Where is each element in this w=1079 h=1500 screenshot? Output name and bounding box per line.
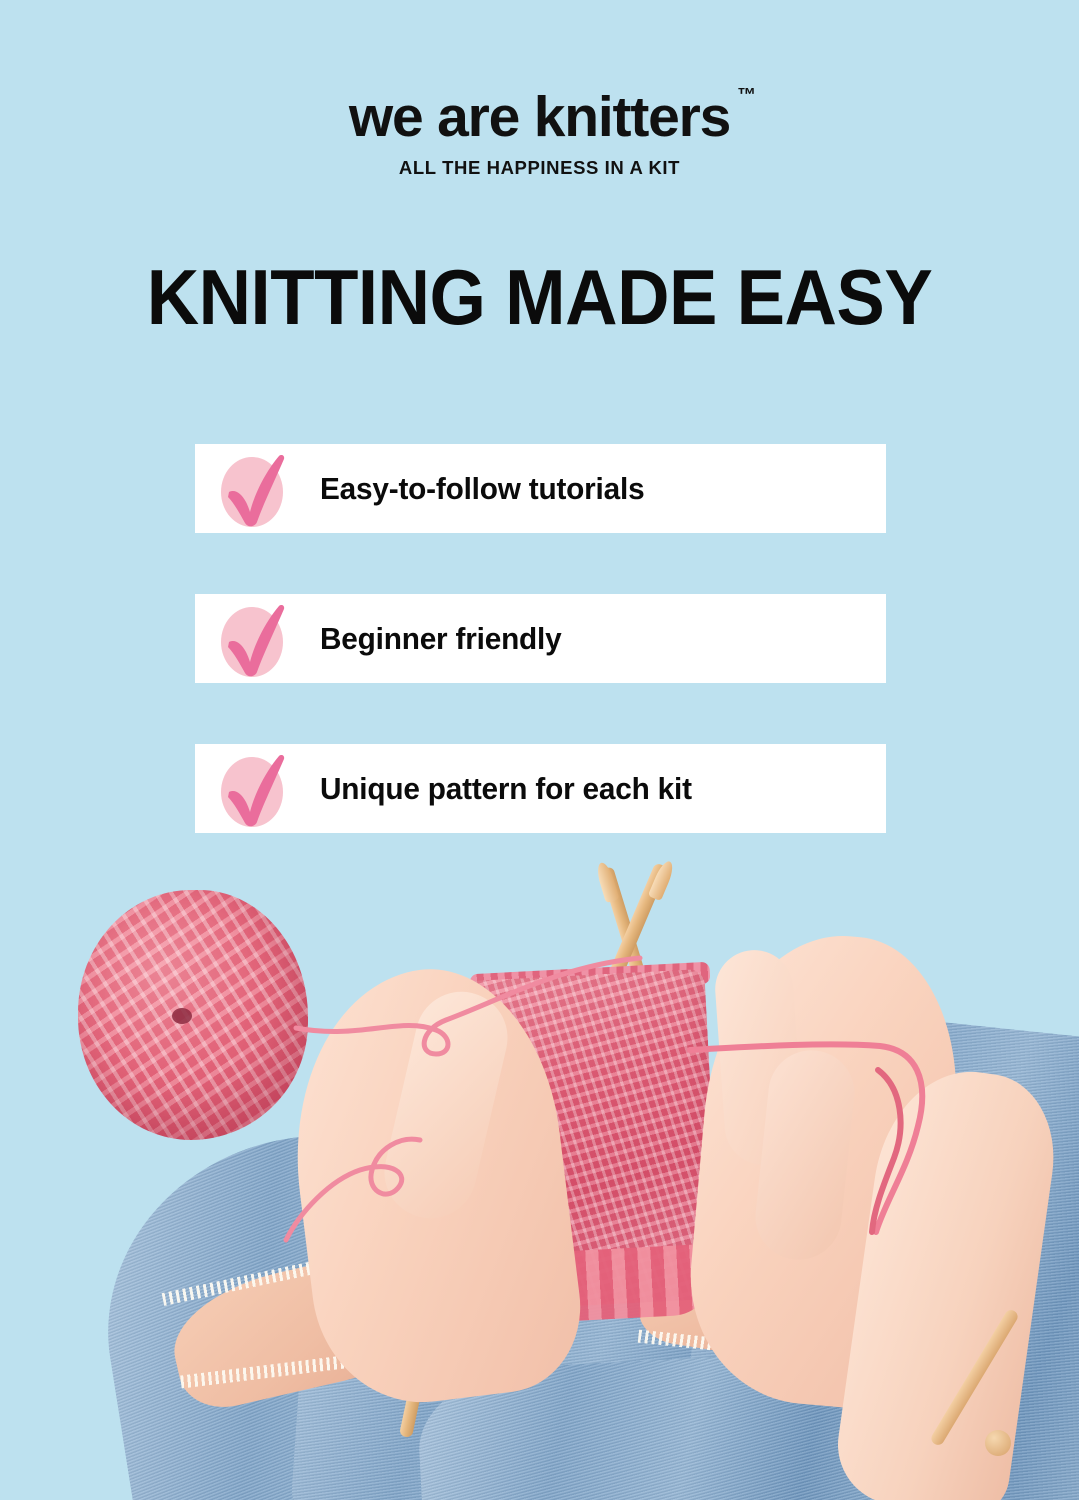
brand-logo: we are knitters ™ ALL THE HAPPINESS IN A… (0, 88, 1079, 179)
poster-canvas: we are knitters ™ ALL THE HAPPINESS IN A… (0, 0, 1079, 1500)
check-icon (215, 444, 293, 533)
hero-photo (0, 840, 1079, 1500)
feature-card-label: Beginner friendly (320, 621, 561, 657)
check-icon (215, 744, 293, 833)
feature-card-label: Unique pattern for each kit (320, 771, 692, 807)
brand-tagline: ALL THE HAPPINESS IN A KIT (0, 157, 1079, 179)
loose-yarn-strands (0, 840, 1079, 1500)
feature-card: Easy-to-follow tutorials (195, 444, 886, 533)
page-title: KNITTING MADE EASY (38, 258, 1041, 336)
feature-card-list: Easy-to-follow tutorials Beginner friend… (195, 444, 886, 894)
trademark-symbol: ™ (737, 86, 756, 106)
check-icon (215, 594, 293, 683)
feature-card: Beginner friendly (195, 594, 886, 683)
feature-card: Unique pattern for each kit (195, 744, 886, 833)
brand-wordmark: we are knitters ™ (349, 88, 730, 148)
feature-card-label: Easy-to-follow tutorials (320, 471, 644, 507)
brand-wordmark-text: we are knitters (349, 85, 730, 149)
